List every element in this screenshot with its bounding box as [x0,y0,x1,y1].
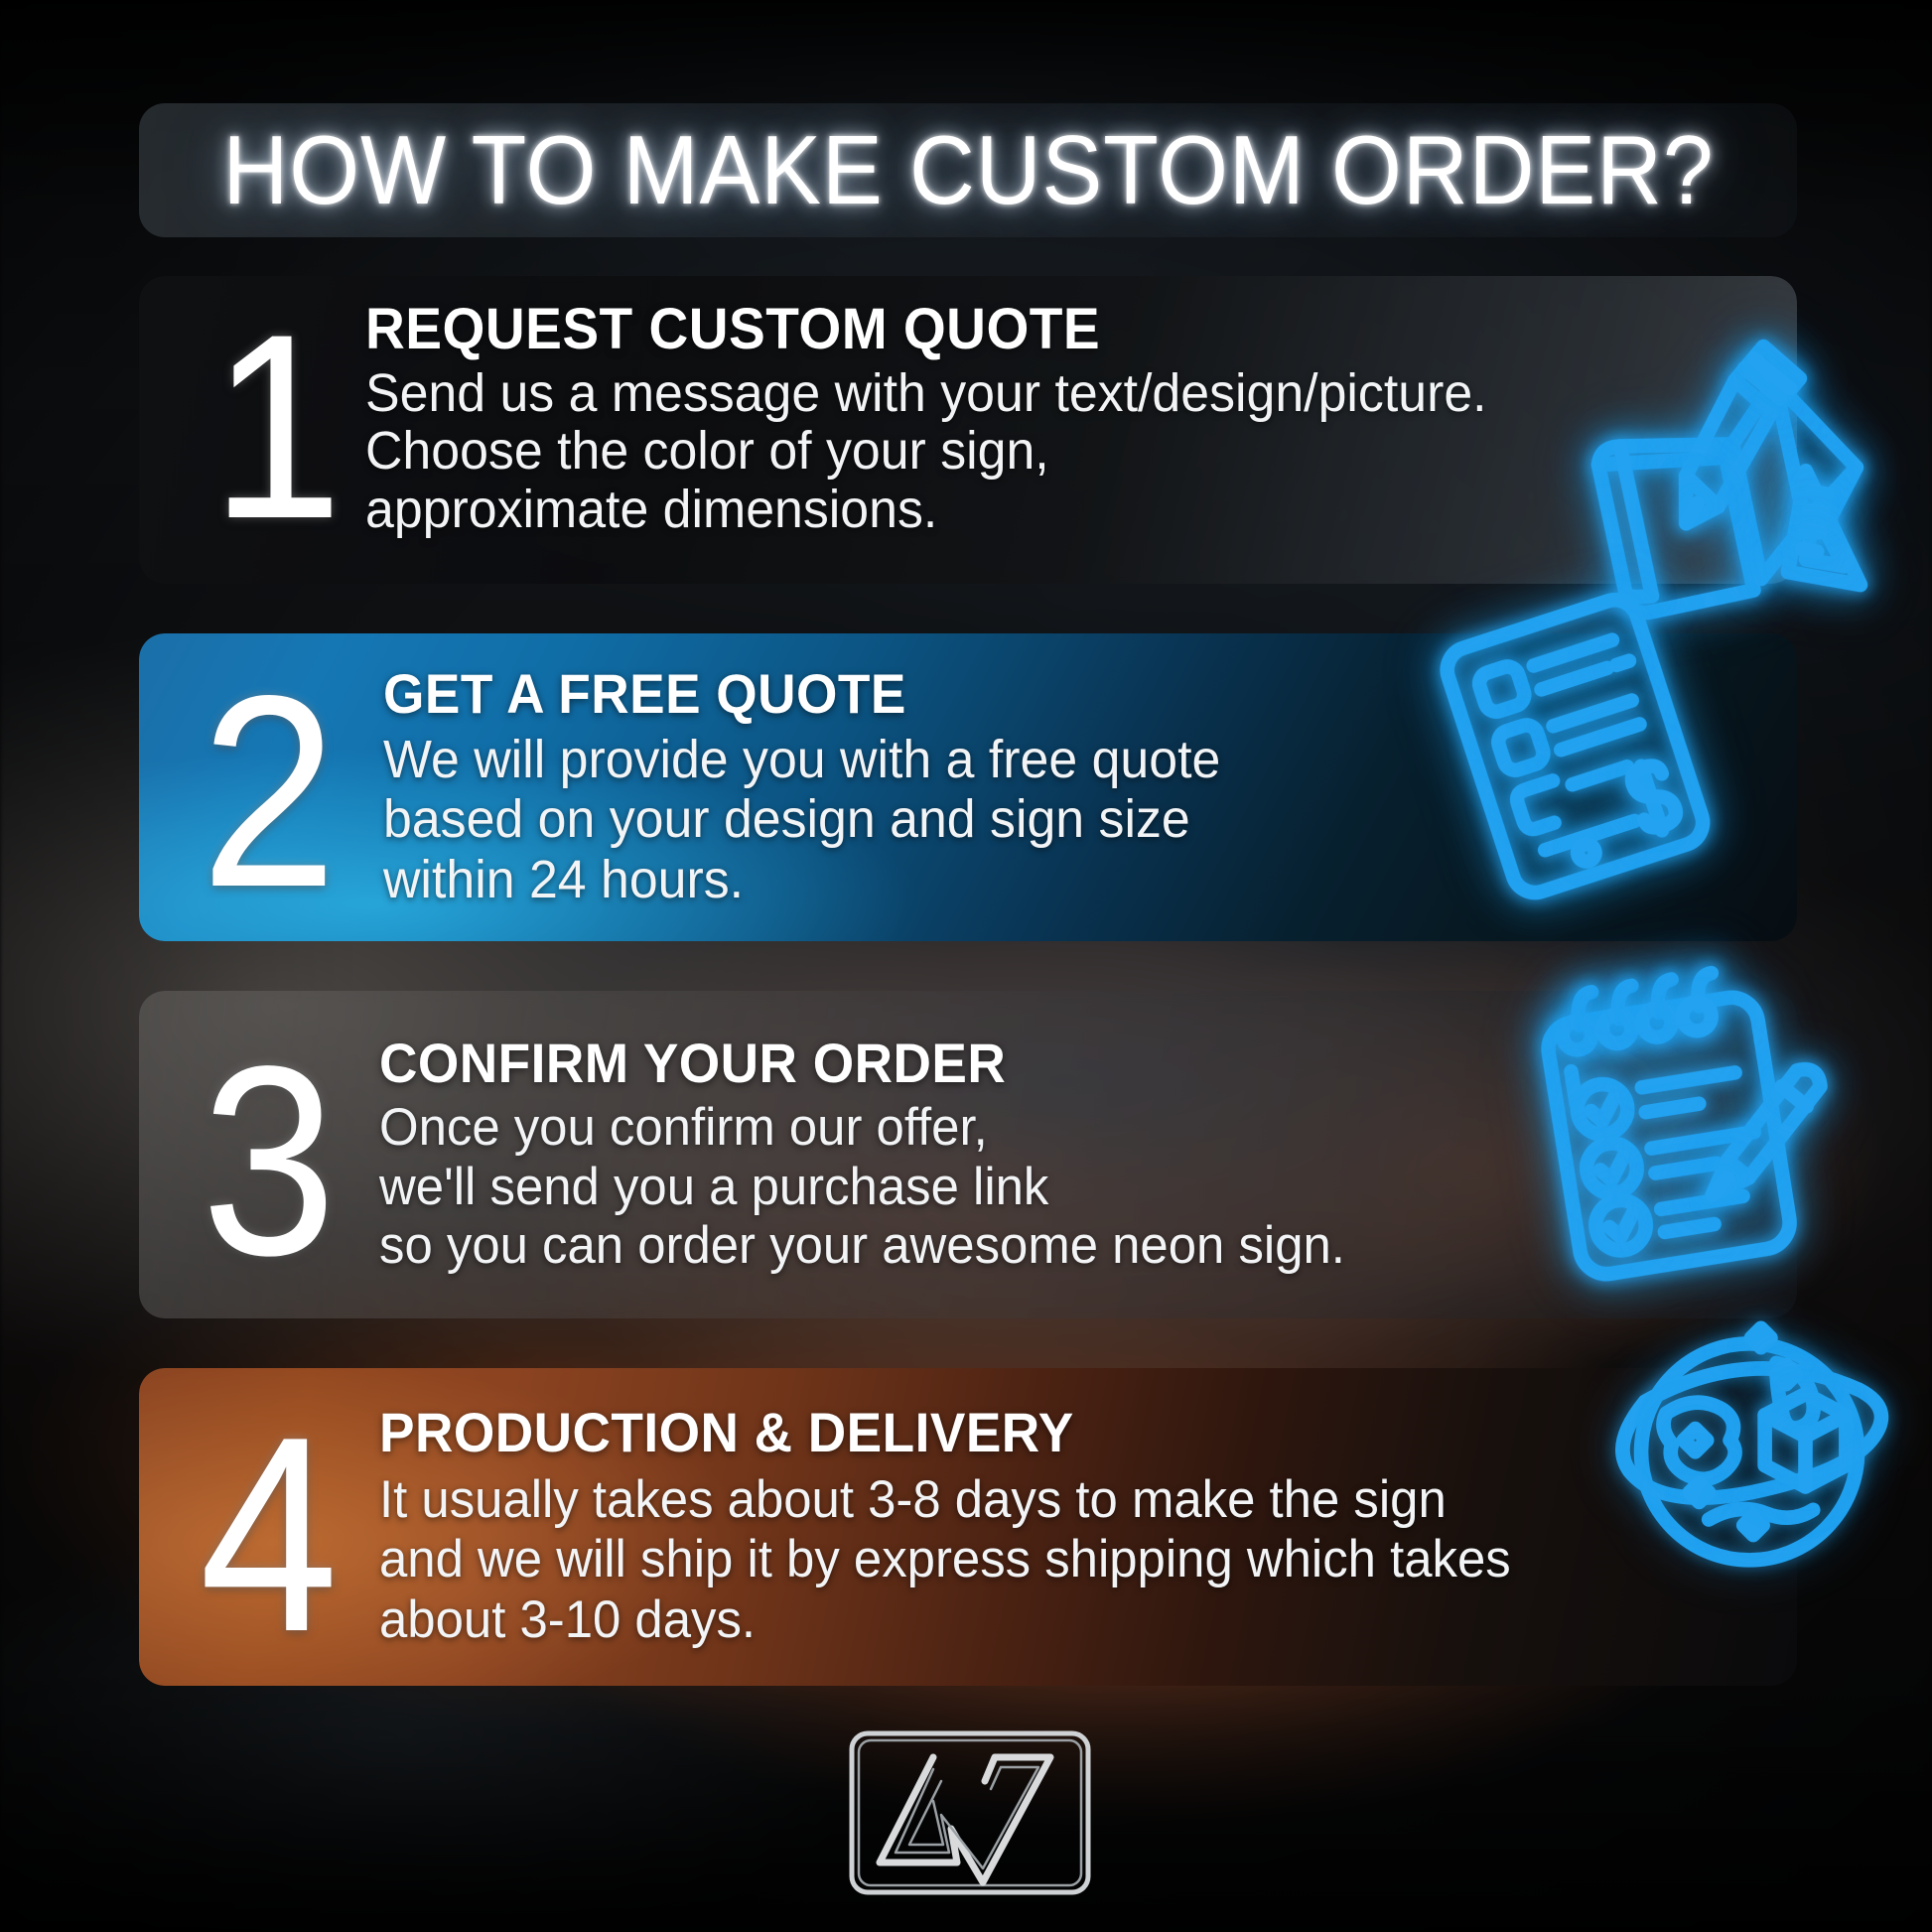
page-title: HOW TO MAKE CUSTOM ORDER? [222,114,1714,226]
step-card-4-surface: 4 PRODUCTION & DELIVERY It usually takes… [139,1368,1797,1686]
step-description-1-line-3: approximate dimensions. [365,481,1712,538]
step-description-2: We will provide you with a free quote ba… [383,730,1712,909]
infographic-page: HOW TO MAKE CUSTOM ORDER? 1 REQUEST CUST… [0,0,1932,1932]
step-title-4: PRODUCTION & DELIVERY [379,1404,1698,1462]
step-card-4-body: 4 PRODUCTION & DELIVERY It usually takes… [139,1368,1797,1686]
step-card-1-surface: 1 REQUEST CUSTOM QUOTE Send us a message… [139,276,1797,584]
title-bar: HOW TO MAKE CUSTOM ORDER? [139,103,1797,237]
step-description-2-line-1: We will provide you with a free quote [383,730,1712,789]
step-card-3[interactable]: 3 CONFIRM YOUR ORDER Once you confirm ou… [139,991,1797,1318]
step-description-3-line-3: so you can order your awesome neon sign. [379,1216,1712,1275]
step-card-1-body: 1 REQUEST CUSTOM QUOTE Send us a message… [139,276,1797,584]
step-title-3: CONFIRM YOUR ORDER [379,1035,1698,1093]
step-card-2-surface: 2 GET A FREE QUOTE We will provide you w… [139,633,1797,941]
step-description-3-line-2: we'll send you a purchase link [379,1158,1712,1216]
step-description-3: Once you confirm our offer, we'll send y… [379,1098,1712,1275]
step-title-2: GET A FREE QUOTE [383,665,1698,724]
ln-monogram-logo [846,1724,1094,1902]
step-description-2-line-2: based on your design and sign size [383,789,1712,849]
step-card-4[interactable]: 4 PRODUCTION & DELIVERY It usually takes… [139,1368,1797,1686]
step-text-3: CONFIRM YOUR ORDER Once you confirm our … [361,1035,1767,1276]
step-card-1[interactable]: 1 REQUEST CUSTOM QUOTE Send us a message… [139,276,1797,584]
step-text-2: GET A FREE QUOTE We will provide you wit… [361,665,1767,909]
step-description-4-line-2: and we will ship it by express shipping … [379,1530,1712,1589]
step-description-4: It usually takes about 3-8 days to make … [379,1470,1712,1650]
step-description-2-line-3: within 24 hours. [383,850,1712,909]
step-description-1-line-2: Choose the color of your sign, [365,422,1712,480]
step-number-3: 3 [183,1026,352,1296]
step-card-3-surface: 3 CONFIRM YOUR ORDER Once you confirm ou… [139,991,1797,1318]
content-column: HOW TO MAKE CUSTOM ORDER? 1 REQUEST CUST… [0,0,1932,1932]
step-description-4-line-3: about 3-10 days. [379,1590,1712,1650]
step-title-1: REQUEST CUSTOM QUOTE [365,300,1697,360]
step-text-4: PRODUCTION & DELIVERY It usually takes a… [361,1404,1767,1650]
step-text-1: REQUEST CUSTOM QUOTE Send us a message w… [361,300,1767,538]
step-card-2[interactable]: 2 GET A FREE QUOTE We will provide you w… [139,633,1797,941]
step-description-4-line-1: It usually takes about 3-8 days to make … [379,1470,1712,1530]
step-card-3-body: 3 CONFIRM YOUR ORDER Once you confirm ou… [139,991,1797,1318]
step-description-1-line-1: Send us a message with your text/design/… [365,364,1712,422]
step-number-4: 4 [183,1396,352,1674]
step-description-1: Send us a message with your text/design/… [365,364,1712,538]
step-card-2-body: 2 GET A FREE QUOTE We will provide you w… [139,633,1797,941]
step-description-3-line-1: Once you confirm our offer, [379,1098,1712,1157]
step-number-1: 1 [191,296,360,559]
step-number-2: 2 [183,655,352,928]
